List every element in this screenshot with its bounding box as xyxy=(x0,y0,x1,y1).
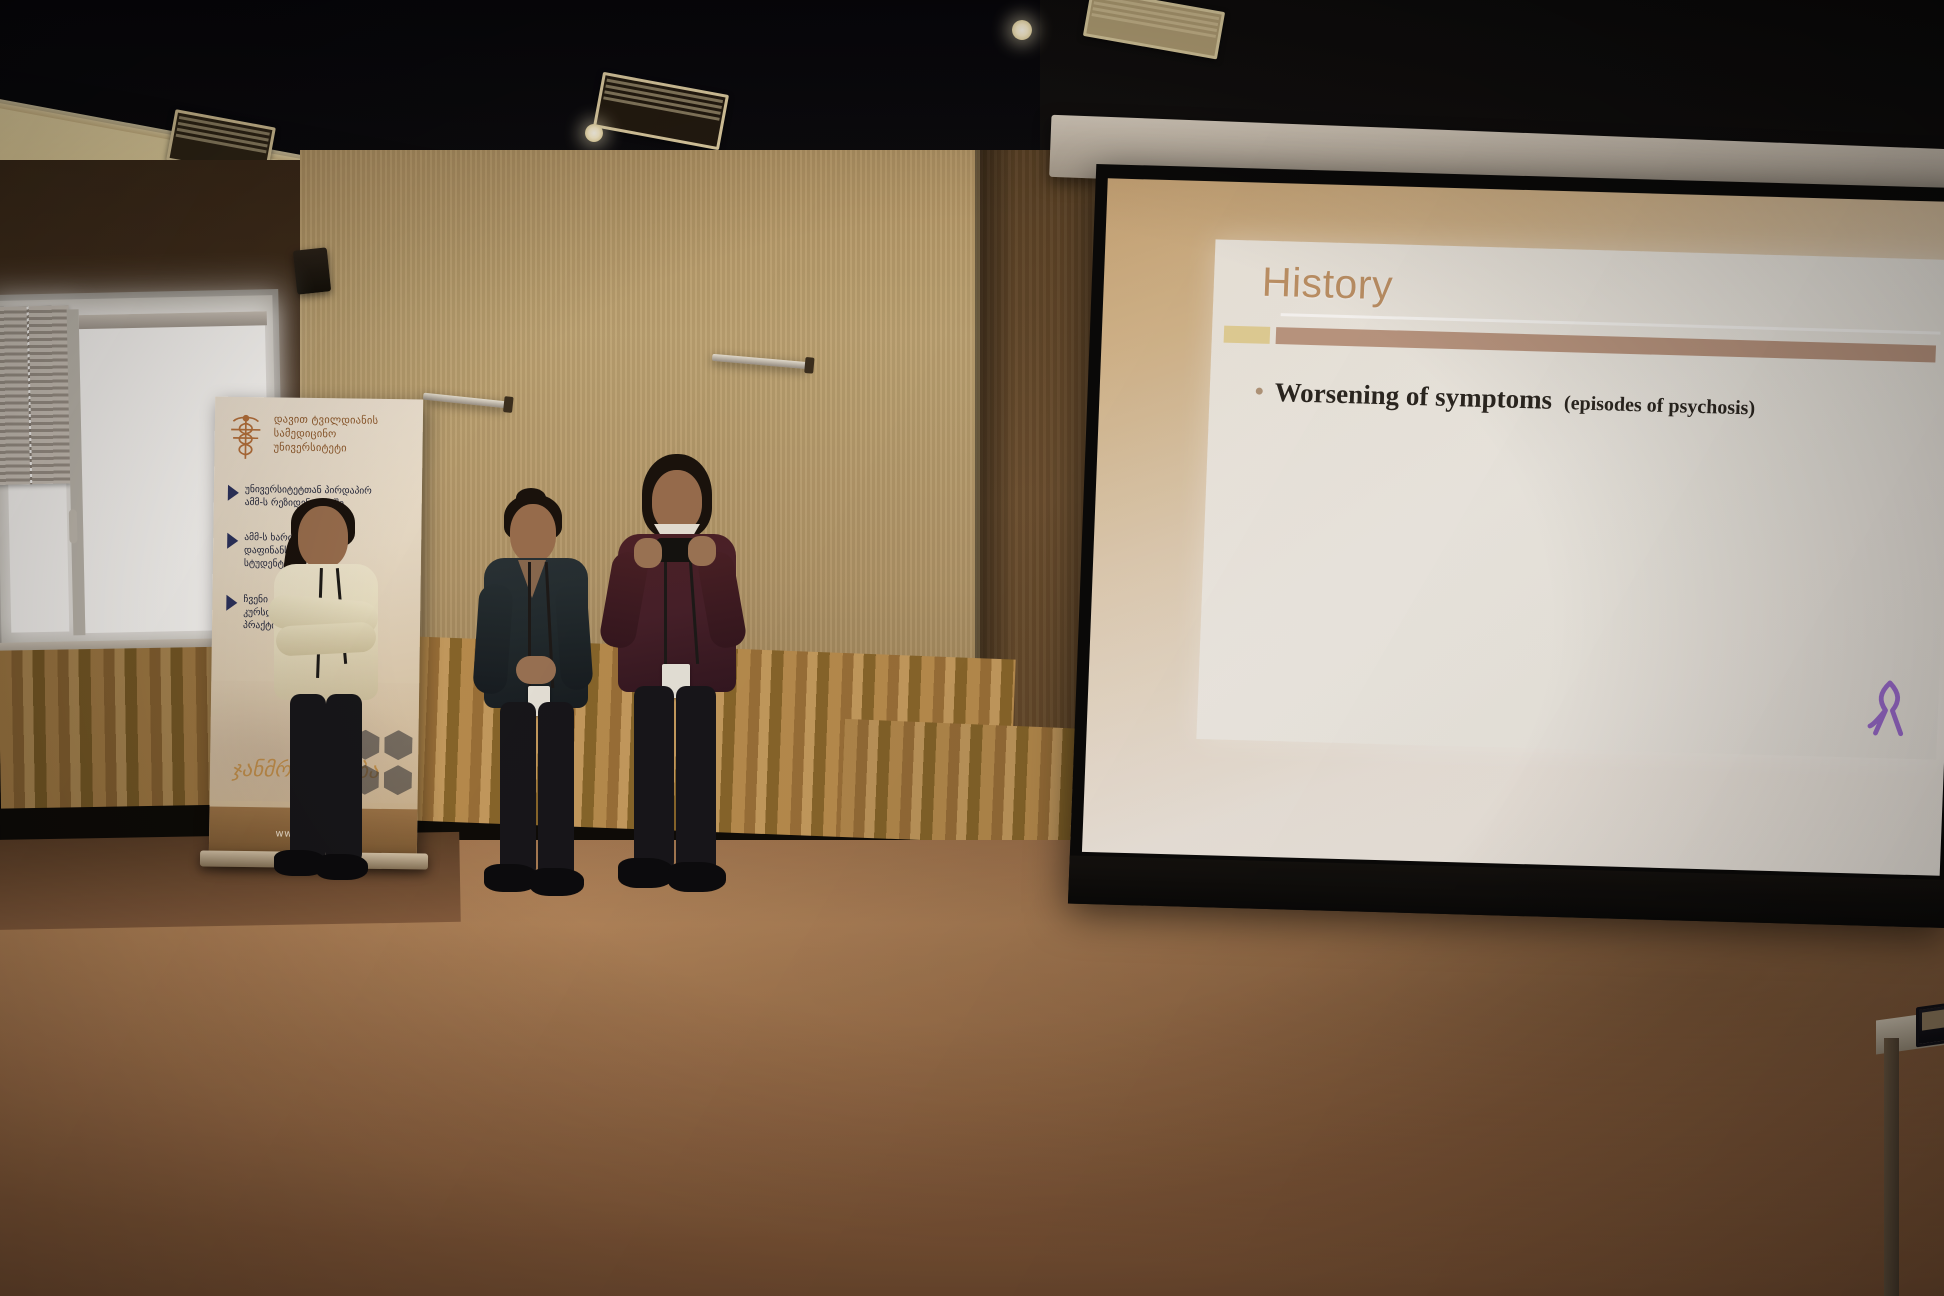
leg xyxy=(500,702,536,878)
awareness-ribbon-icon xyxy=(1865,678,1913,741)
hand-left xyxy=(634,538,662,568)
slide-accent-bar xyxy=(1276,327,1936,362)
conference-room-photo: History Worsening of symptoms (episodes … xyxy=(0,0,1944,1296)
side-table-leg xyxy=(1884,1038,1899,1296)
hand-right xyxy=(688,536,716,566)
presentation-slide: History Worsening of symptoms (episodes … xyxy=(1196,239,1944,759)
head xyxy=(510,504,556,562)
shoe xyxy=(316,854,368,880)
arrow-marker-icon xyxy=(227,533,238,549)
projection-screen-surface: History Worsening of symptoms (episodes … xyxy=(1082,178,1944,875)
arm-crossed-lower xyxy=(275,621,376,656)
presenter-1 xyxy=(258,498,398,908)
leg xyxy=(290,694,326,862)
projection-screen[interactable]: History Worsening of symptoms (episodes … xyxy=(1068,164,1944,928)
slide-title: History xyxy=(1261,259,1394,310)
head xyxy=(298,506,348,568)
arrow-marker-icon xyxy=(226,594,237,610)
shoe xyxy=(668,862,726,892)
presenter-2 xyxy=(472,488,602,908)
arrow-marker-icon xyxy=(228,485,239,501)
window-handle-icon[interactable] xyxy=(69,509,78,543)
leg xyxy=(326,694,362,864)
wall-speaker-icon xyxy=(293,247,331,294)
shoe xyxy=(530,868,584,896)
leg xyxy=(634,686,674,872)
head xyxy=(652,470,702,532)
leg xyxy=(676,686,716,876)
slide-bullet-item: Worsening of symptoms (episodes of psych… xyxy=(1255,377,1944,427)
ceiling-downlight-icon xyxy=(1012,20,1032,40)
presenter-3 xyxy=(600,452,760,920)
venetian-blinds-icon[interactable] xyxy=(0,305,72,485)
caduceus-icon xyxy=(224,413,267,462)
leg xyxy=(538,702,574,880)
hands-clasped xyxy=(516,656,556,684)
slide-bullet-main-text: Worsening of symptoms xyxy=(1274,377,1553,416)
side-table xyxy=(1876,1010,1944,1296)
bullet-dot-icon xyxy=(1256,388,1263,395)
shoe xyxy=(618,858,674,888)
slide-accent-square xyxy=(1224,326,1271,344)
ceiling-downlight-icon xyxy=(585,124,603,142)
slide-bullet-sub-text: (episodes of psychosis) xyxy=(1564,392,1756,420)
banner-organization-name: დავით ტვილდიანისსამედიცინოუნივერსიტეტი xyxy=(273,413,378,456)
banner-header: დავით ტვილდიანისსამედიცინოუნივერსიტეტი xyxy=(224,413,417,464)
lanyard xyxy=(664,546,667,668)
